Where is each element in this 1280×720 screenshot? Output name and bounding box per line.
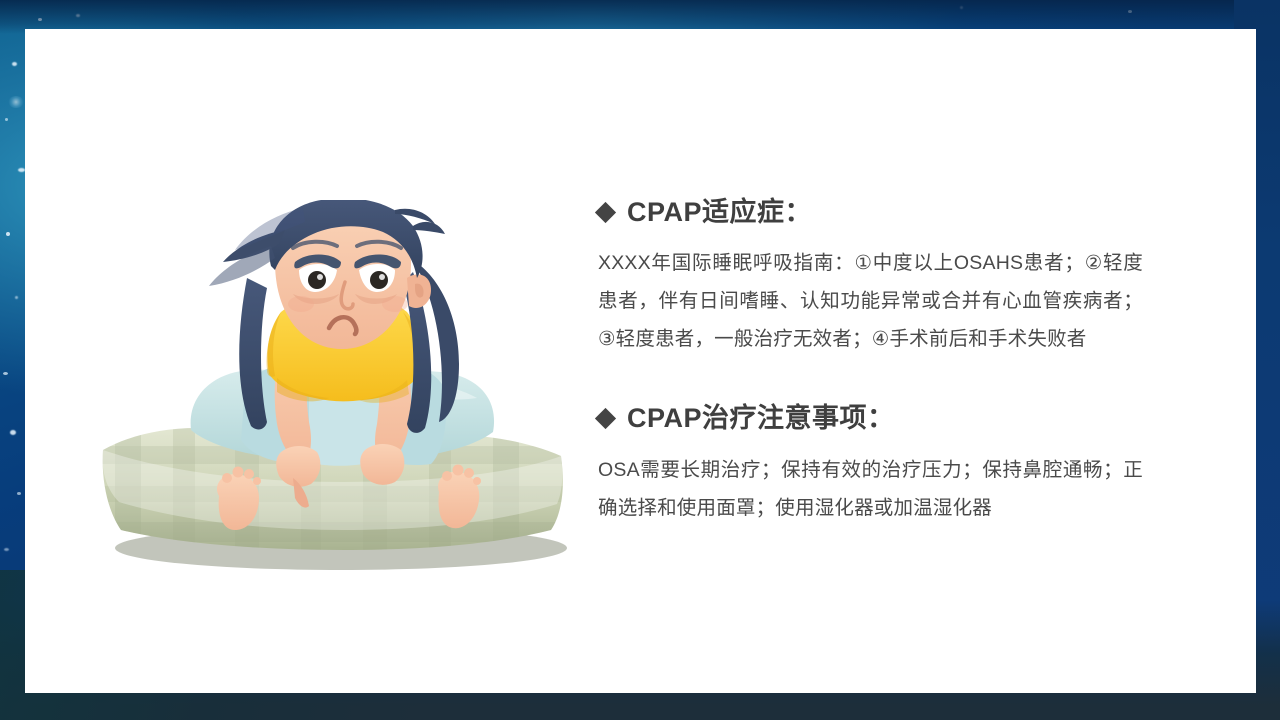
- section1-heading: CPAP适应症：: [598, 196, 1143, 228]
- slide-root: CPAP适应症： XXXX年国际睡眠呼吸指南：①中度以上OSAHS患者；②轻度患…: [0, 0, 1280, 720]
- text-column: CPAP适应症： XXXX年国际睡眠呼吸指南：①中度以上OSAHS患者；②轻度患…: [598, 196, 1143, 527]
- tired-girl-illustration: [95, 200, 585, 600]
- section1-heading-label: CPAP适应症：: [627, 196, 812, 228]
- section-spacer: [598, 358, 1143, 402]
- diamond-bullet-icon: [595, 408, 616, 429]
- diamond-bullet-icon: [595, 202, 616, 223]
- section2-heading-label: CPAP治疗注意事项：: [627, 402, 895, 434]
- section1-body: XXXX年国际睡眠呼吸指南：①中度以上OSAHS患者；②轻度患者，伴有日间嗜睡、…: [598, 244, 1143, 358]
- section2-heading: CPAP治疗注意事项：: [598, 402, 1143, 434]
- section2-body: OSA需要长期治疗；保持有效的治疗压力；保持鼻腔通畅；正确选择和使用面罩；使用湿…: [598, 451, 1143, 527]
